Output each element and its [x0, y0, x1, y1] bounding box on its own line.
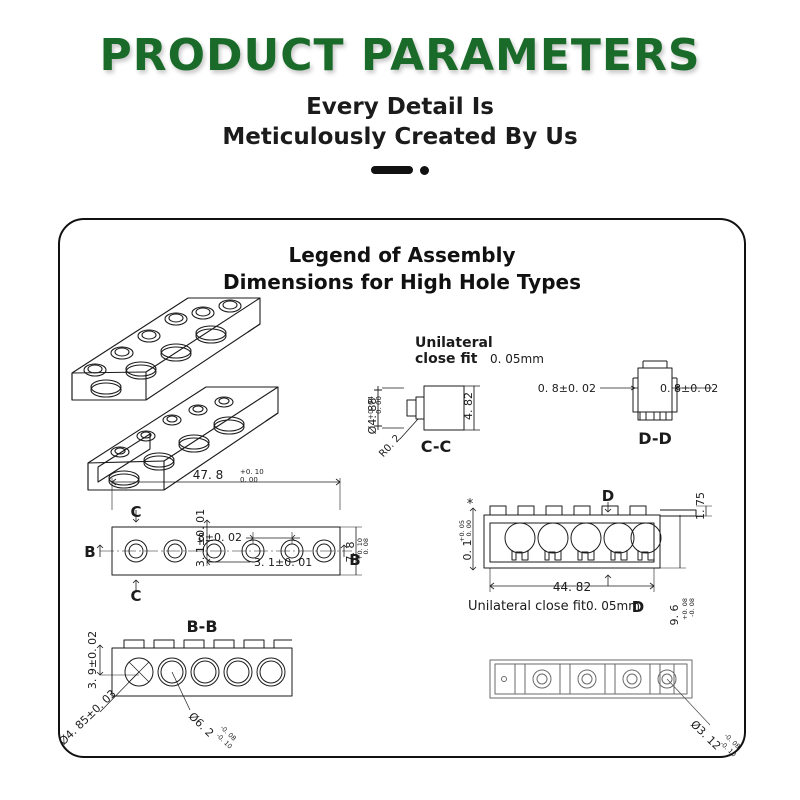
bb-hole-large-dim: Ø6. 2: [186, 710, 216, 740]
section-dd-labels: 0. 8±0. 02 0. 8±0. 02 D-D: [538, 382, 718, 448]
decorative-divider: [0, 166, 800, 175]
front-pitch-bottom-dim: 3. 1±0. 01: [254, 556, 312, 569]
dd-dim-right: 0. 8±0. 02: [660, 382, 718, 395]
assembly-holes: [505, 523, 661, 560]
front-view-labels: 47. 8 +0. 10 0. 00 7. 8 +0. 10 0. 08 8±0…: [84, 468, 370, 605]
cc-height-dim: 4. 82: [462, 392, 475, 420]
front-length-tol-upper: +0. 10: [240, 468, 264, 476]
front-height-tol-lower: 0. 08: [362, 538, 370, 555]
front-marker-c-bottom: C: [130, 587, 141, 605]
front-length-tol-lower: 0. 00: [240, 476, 258, 484]
bottom-hole-dim: Ø3. 12: [688, 718, 723, 753]
page-subtitle: Every Detail Is Meticulously Created By …: [0, 92, 800, 153]
cc-section-label: C-C: [421, 437, 452, 456]
assembly-marker-d-top: D: [602, 487, 614, 505]
isometric-view: [72, 298, 278, 490]
subtitle-line-1: Every Detail Is: [0, 92, 800, 122]
assembly-view: [470, 502, 712, 592]
assembly-height-tol-lower: -0. 08: [688, 598, 696, 617]
assembly-note: Unilateral close fit: [468, 599, 586, 614]
bb-section-label: B-B: [186, 617, 217, 636]
section-bb-holes: [125, 658, 285, 686]
front-length-dim: 47. 8: [193, 468, 224, 482]
cc-note-value: 0. 05mm: [490, 352, 544, 366]
assembly-height-dim: 9. 6: [668, 605, 681, 626]
subtitle-line-2: Meticulously Created By Us: [0, 122, 800, 152]
assembly-tab-height-dim: 1. 75: [694, 492, 707, 520]
dd-dim-left: 0. 8±0. 02: [538, 382, 596, 395]
cc-radius-dim: R0. 2: [377, 433, 403, 460]
section-bb-labels: 3. 9±0. 02 Ø4. 85±0. 03 Ø6. 2 -0. 08 -0.…: [60, 617, 238, 751]
page-title: PRODUCT PARAMETERS: [0, 34, 800, 78]
cc-note-line-2: close fit: [415, 351, 478, 367]
section-cc-labels: +0. 04 0. 00 Ø4. 88 4. 82 R0. 2 Unilater…: [366, 335, 544, 460]
section-bb-view: [97, 640, 292, 712]
divider-dot-icon: [420, 166, 429, 175]
front-marker-c-top: C: [130, 503, 141, 521]
bottom-view-labels: Ø3. 12 -0. 08 -0. 10: [688, 718, 742, 759]
assembly-marker-d-bottom: D: [632, 598, 644, 616]
dd-section-label: D-D: [638, 429, 672, 448]
front-pitch-top-dim: 3. 1±0. 01: [194, 509, 207, 567]
assembly-gap-star: *: [467, 497, 474, 512]
page-header: PRODUCT PARAMETERS Every Detail Is Metic…: [0, 0, 800, 175]
technical-drawing-panel: Legend of Assembly Dimensions for High H…: [58, 218, 746, 758]
front-marker-b-right: B: [349, 551, 360, 569]
drawing-canvas: +0. 04 0. 00 Ø4. 88 4. 82 R0. 2 Unilater…: [60, 220, 748, 760]
bottom-view: [490, 660, 710, 725]
divider-bar-icon: [371, 166, 413, 174]
assembly-gap-tol-lower: 0. 00: [465, 520, 473, 537]
cc-note-line-1: Unilateral: [415, 335, 493, 351]
assembly-width-dim: 44. 82: [553, 580, 591, 594]
bb-hole-small-dim: Ø4. 85±0. 03: [60, 687, 119, 748]
cc-diameter-dim: Ø4. 88: [366, 398, 379, 435]
bb-height-dim: 3. 9±0. 02: [86, 631, 99, 689]
isometric-part-upper: [72, 298, 260, 400]
front-marker-b-left: B: [84, 543, 95, 561]
